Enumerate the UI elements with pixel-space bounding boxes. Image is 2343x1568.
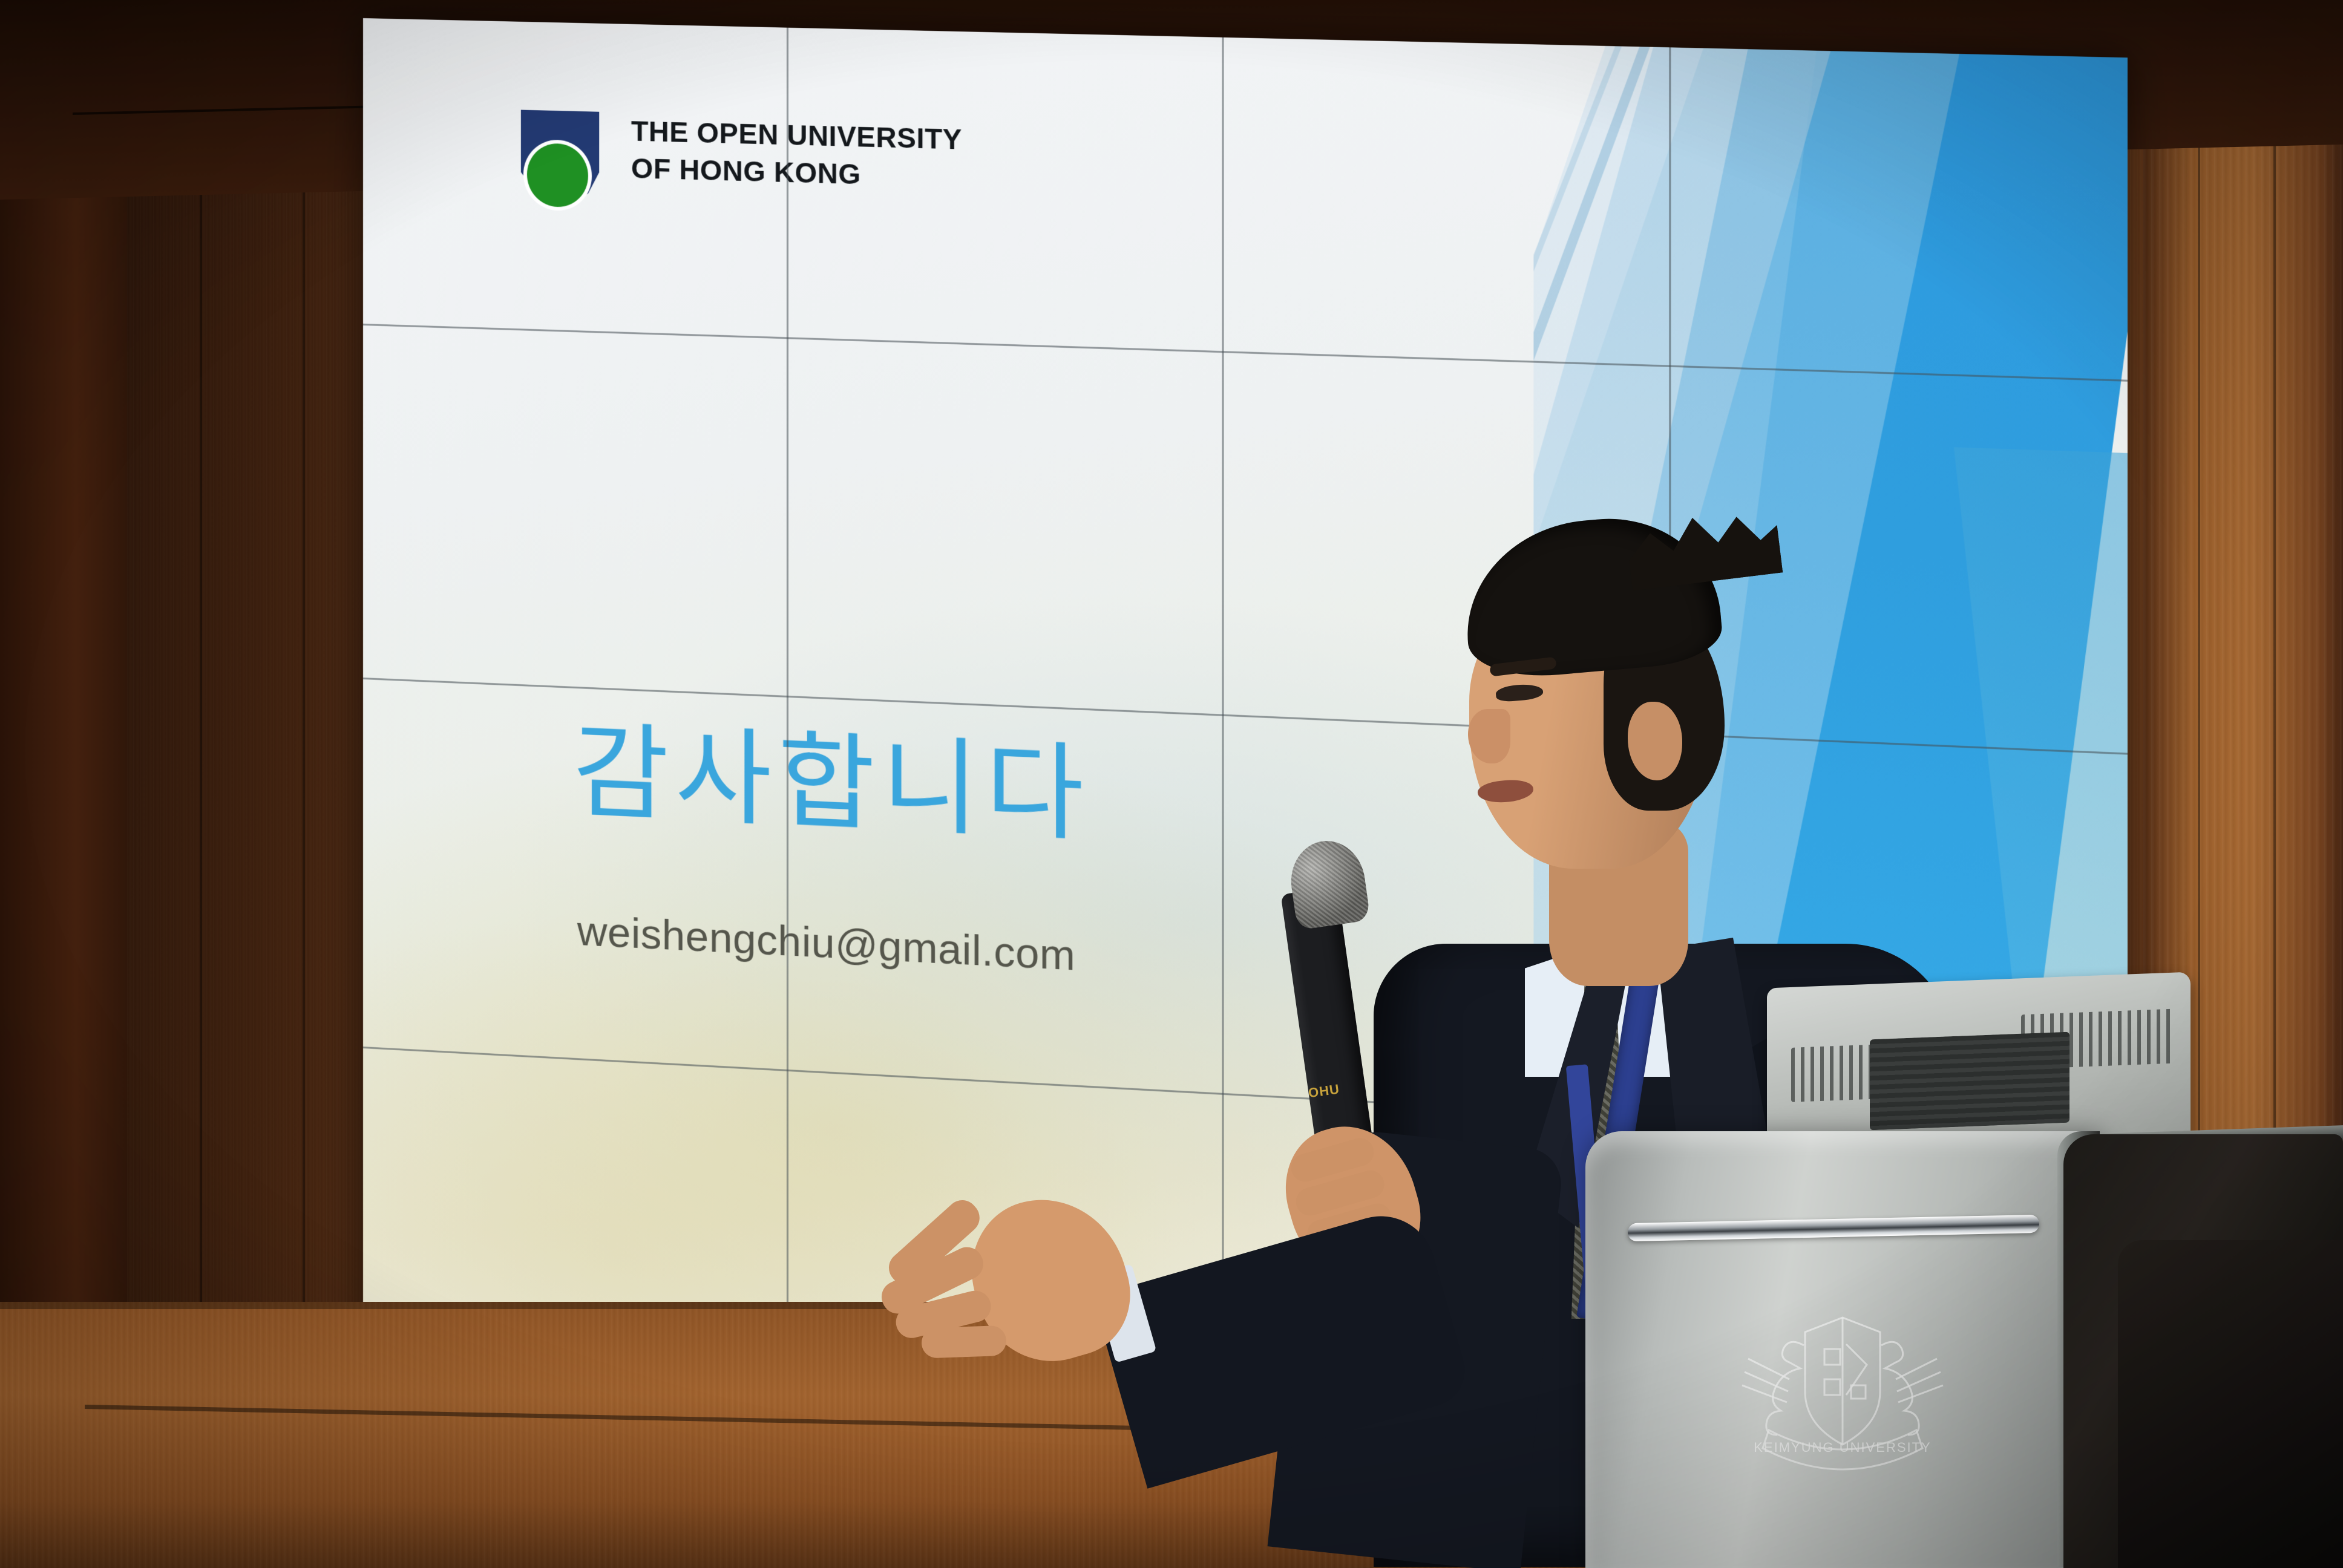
ouhk-shield-logo-icon [521,110,599,209]
keimyung-university-crest-icon: KEIMYUNG UNIVERSITY [1722,1301,1964,1482]
monitor-mount-plate [1870,1032,2069,1131]
closing-message: 감사합니다 [573,720,1090,848]
organization-name: THE OPEN UNIVERSITY OF HONG KONG [631,113,962,196]
ouhk-logo-lockup: THE OPEN UNIVERSITY OF HONG KONG [521,110,962,220]
panel-bezel-vertical [787,28,788,1437]
side-unit-recess [2118,1240,2343,1568]
thumb [921,1325,1007,1359]
crest-text: KEIMYUNG UNIVERSITY [1754,1440,1931,1455]
scene-root: THE OPEN UNIVERSITY OF HONG KONG 감사합니다 w… [0,0,2343,1568]
lectern: KEIMYUNG UNIVERSITY [1585,980,2343,1568]
microphone-head [1286,836,1371,930]
panel-bezel-vertical [1222,38,1224,1466]
contact-email: weishengchiu@gmail.com [577,907,1076,979]
microphone-body [1280,887,1375,1171]
